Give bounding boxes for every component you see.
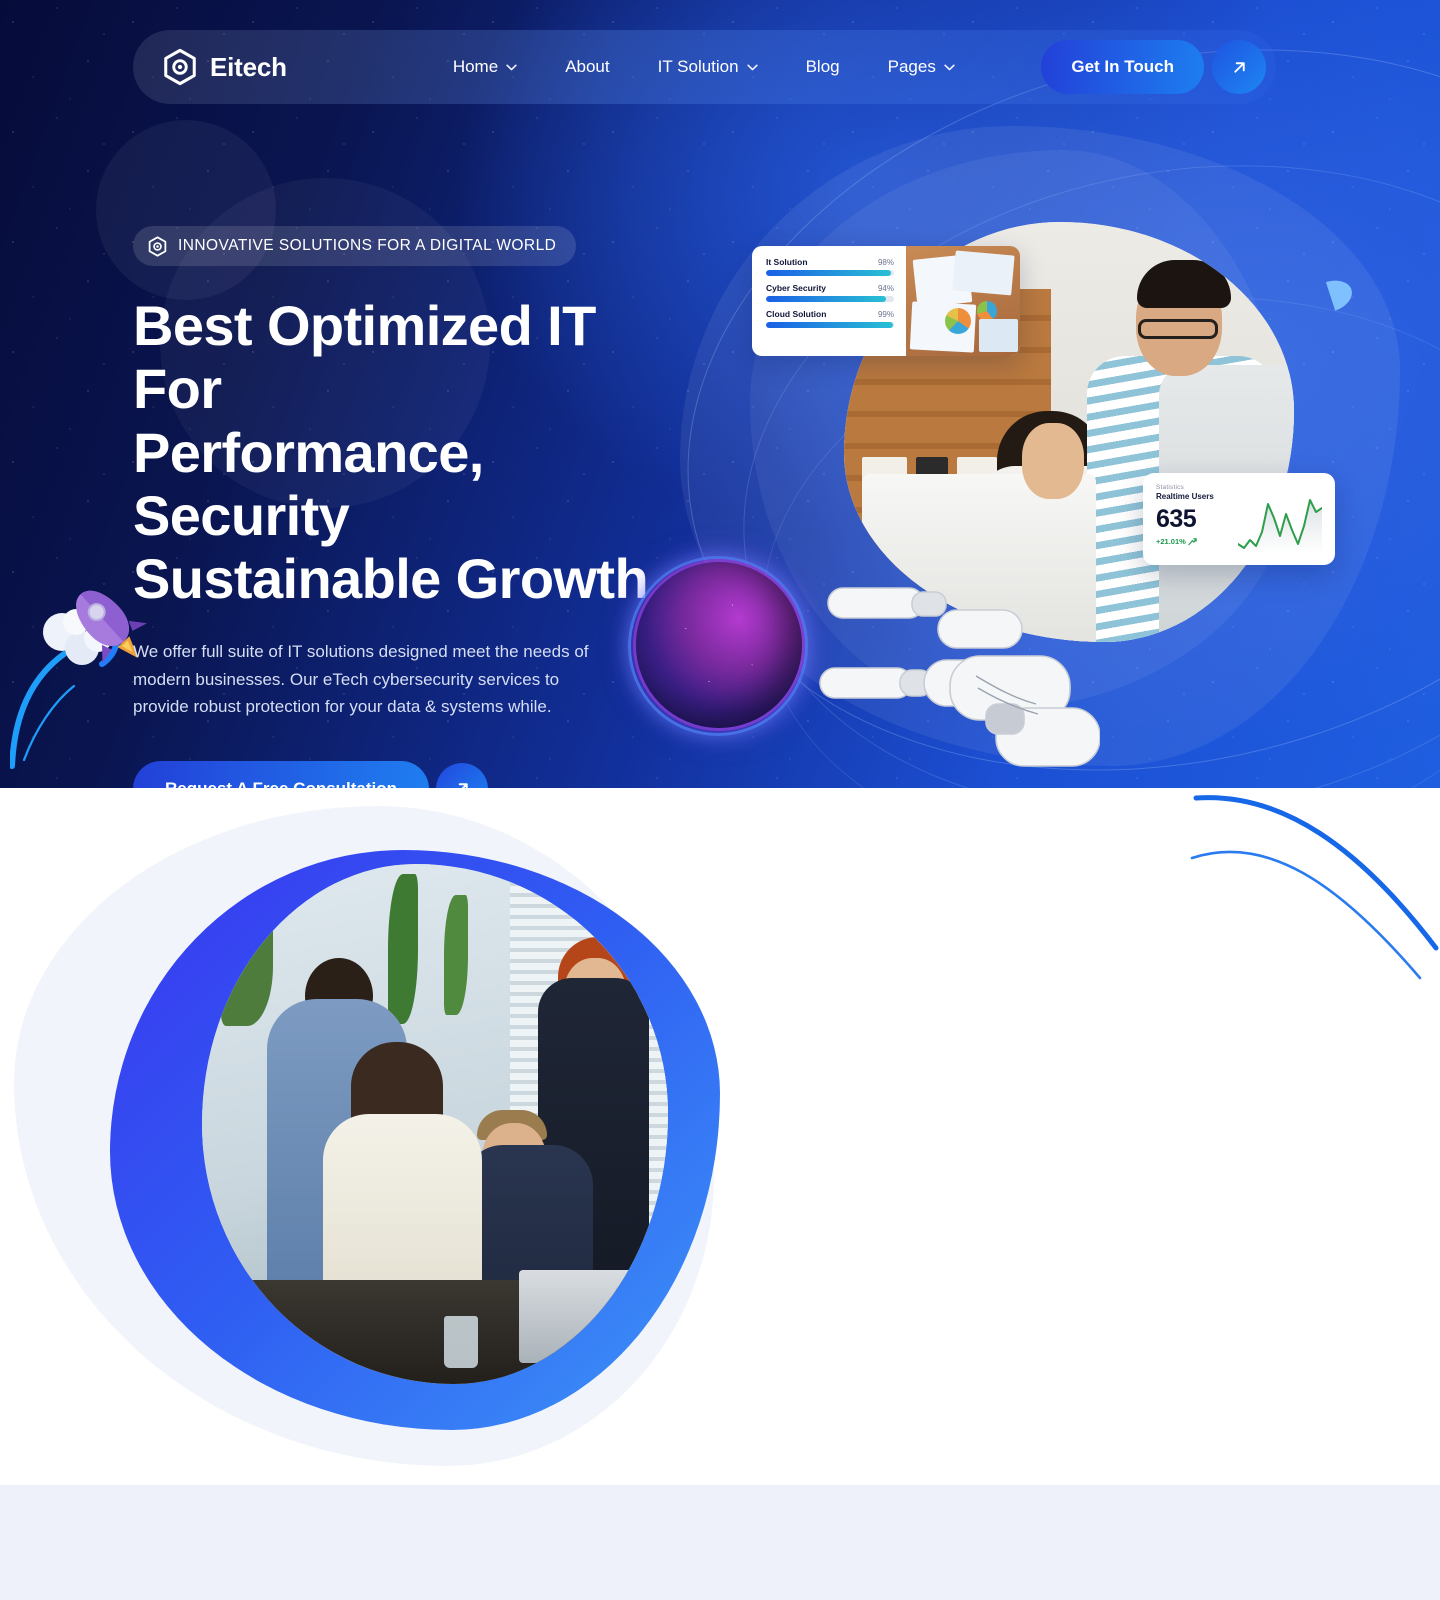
hero-stats-number: 635 — [1156, 506, 1232, 534]
hero-skill-name: Cyber Security — [766, 283, 826, 293]
nav-item-blog[interactable]: Blog — [782, 57, 864, 77]
nav-item-pages[interactable]: Pages — [864, 57, 979, 77]
hero-badge-label: INNOVATIVE SOLUTIONS FOR A DIGITAL WORLD — [178, 237, 556, 255]
hero-skill-item: It Solution 98% — [766, 257, 894, 276]
hero-stats-delta: +21.01% — [1156, 537, 1232, 546]
hero-skill-track — [766, 270, 894, 276]
hero-skill-fill — [766, 270, 891, 276]
brand-name: Eitech — [210, 52, 287, 83]
hero-skill-list: It Solution 98% Cyber Security 94% Clo — [752, 246, 906, 356]
hero-actions: Request A Free Consultation — [133, 761, 693, 788]
about-section: ABOUT ETECH IT SOLUTION Dedicated To Del… — [0, 788, 1440, 1485]
trend-up-icon — [1188, 537, 1197, 546]
hero-skill-value: 98% — [878, 258, 894, 267]
hero-skill-fill — [766, 296, 886, 302]
hexagon-logo-icon — [161, 48, 199, 86]
hero-badge: INNOVATIVE SOLUTIONS FOR A DIGITAL WORLD — [133, 226, 576, 266]
hero-skill-value: 94% — [878, 284, 894, 293]
hero-stats-text: Statistics Realtime Users 635 +21.01% — [1156, 484, 1232, 554]
hero-skill-item: Cloud Solution 99% — [766, 309, 894, 328]
chevron-down-icon — [747, 64, 758, 71]
hero-request-consultation-button[interactable]: Request A Free Consultation — [133, 761, 429, 788]
globe-icon — [636, 562, 802, 728]
hexagon-logo-icon — [147, 236, 168, 257]
nav-item-label: Home — [453, 57, 498, 77]
robot-hand-icon — [800, 556, 1100, 786]
nav-item-home[interactable]: Home — [429, 57, 541, 77]
hero-title-line-2: Performance, Security — [133, 421, 484, 547]
hero-stats-sparkline — [1238, 484, 1322, 554]
nav-item-label: Blog — [806, 57, 840, 77]
nav-item-about[interactable]: About — [541, 57, 633, 77]
brand-logo[interactable]: Eitech — [161, 48, 287, 86]
hero-skill-name: It Solution — [766, 257, 808, 267]
hero-stats-subtitle: Realtime Users — [1156, 492, 1232, 501]
decorative-curve — [1170, 788, 1440, 982]
hero-skill-card-photo — [906, 246, 1020, 356]
about-image — [202, 864, 668, 1384]
hero-skill-card: It Solution 98% Cyber Security 94% Clo — [752, 246, 1020, 356]
nav-item-it-solution[interactable]: IT Solution — [634, 57, 782, 77]
chevron-down-icon — [944, 64, 955, 71]
arrow-up-right-icon — [454, 780, 471, 788]
hero-content: INNOVATIVE SOLUTIONS FOR A DIGITAL WORLD… — [133, 226, 693, 788]
leaf-shape-icon — [1326, 275, 1356, 310]
hero-title-line-1: Best Optimized IT For — [133, 294, 596, 420]
hero-section: Eitech Home About IT Solution Blog Pages — [0, 0, 1440, 788]
navbar: Eitech Home About IT Solution Blog Pages — [133, 30, 1276, 104]
nav-item-label: Pages — [888, 57, 936, 77]
hero-skill-track — [766, 296, 894, 302]
hero-skill-item: Cyber Security 94% — [766, 283, 894, 302]
hero-skill-fill — [766, 322, 893, 328]
chevron-down-icon — [506, 64, 517, 71]
get-in-touch-arrow-button[interactable] — [1212, 40, 1266, 94]
hero-skill-value: 99% — [878, 310, 894, 319]
sparkline-chart — [1238, 492, 1322, 554]
nav-links: Home About IT Solution Blog Pages — [429, 57, 979, 77]
nav-item-label: IT Solution — [658, 57, 739, 77]
bottom-strip — [0, 1485, 1440, 1600]
hero-skill-track — [766, 322, 894, 328]
hero-title-line-3: Sustainable Growth — [133, 547, 648, 610]
hero-stats-delta-value: +21.01% — [1156, 537, 1186, 546]
hero-request-consultation-arrow-button[interactable] — [436, 763, 488, 788]
page-title: Best Optimized IT For Performance, Secur… — [133, 294, 693, 610]
nav-cta-group: Get In Touch — [1041, 40, 1266, 94]
get-in-touch-button[interactable]: Get In Touch — [1041, 40, 1204, 94]
arrow-up-right-icon — [1231, 59, 1248, 76]
hero-stats-card: Statistics Realtime Users 635 +21.01% — [1143, 473, 1335, 565]
hero-description: We offer full suite of IT solutions desi… — [133, 638, 603, 721]
nav-item-label: About — [565, 57, 609, 77]
hero-skill-name: Cloud Solution — [766, 309, 826, 319]
hero-stats-label: Statistics — [1156, 484, 1232, 491]
